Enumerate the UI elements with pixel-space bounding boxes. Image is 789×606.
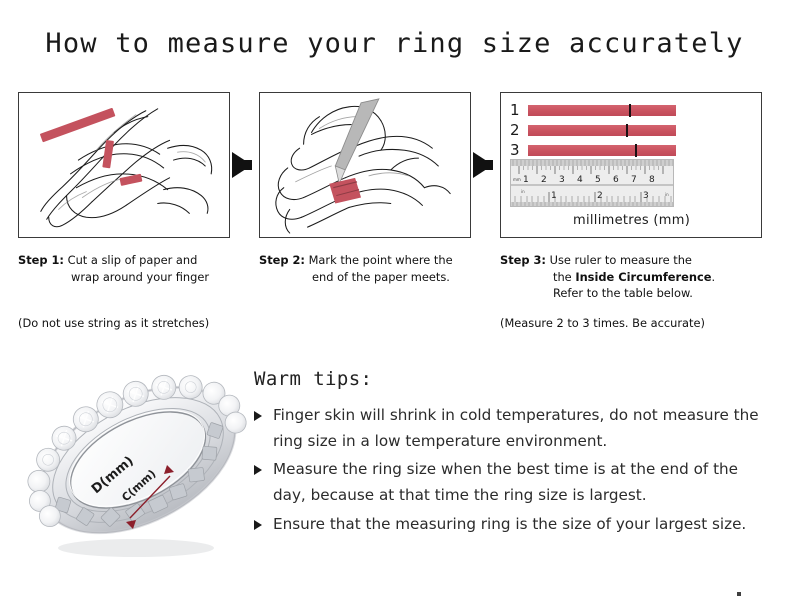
step-1-note: (Do not use string as it stretches) <box>18 316 209 330</box>
strip-number-2: 2 <box>510 123 528 138</box>
paper-strip-2 <box>528 125 676 136</box>
hand-marking-paper-illustration <box>260 93 470 237</box>
tip-text: Ensure that the measuring ring is the si… <box>273 511 774 537</box>
warm-tips-list: Finger skin will shrink in cold temperat… <box>254 402 774 539</box>
svg-text:3: 3 <box>559 175 565 185</box>
hand-with-paper-slip-illustration <box>19 93 229 237</box>
step-2-line-2: end of the paper meets. <box>259 269 484 286</box>
svg-text:mm: mm <box>513 177 521 182</box>
warm-tips-heading: Warm tips: <box>254 368 372 390</box>
list-item: Measure the ring size when the best time… <box>254 456 774 508</box>
diamond-eternity-ring-illustration: D(mm) C(mm) <box>18 352 258 572</box>
svg-text:8: 8 <box>649 175 655 185</box>
paper-strip-row-1: 1 <box>510 103 686 118</box>
paper-strip-row-2: 2 <box>510 123 686 138</box>
page-title: How to measure your ring size accurately <box>0 28 789 59</box>
step-3-line-3: Refer to the table below. <box>500 285 770 302</box>
ruler-scale-graphic: mm 123 456 78 123 in in <box>511 160 674 207</box>
step-3-line-2-prefix: the <box>553 270 575 284</box>
tip-text: Finger skin will shrink in cold temperat… <box>273 402 774 454</box>
svg-text:6: 6 <box>613 175 619 185</box>
image-artifact-speck <box>737 592 741 596</box>
step-3-note: (Measure 2 to 3 times. Be accurate) <box>500 316 705 330</box>
bullet-triangle-icon <box>254 411 262 421</box>
svg-text:5: 5 <box>595 175 601 185</box>
paper-strip-3 <box>528 145 676 156</box>
strip-number-3: 3 <box>510 143 528 158</box>
svg-text:7: 7 <box>631 175 637 185</box>
list-item: Finger skin will shrink in cold temperat… <box>254 402 774 454</box>
step-3-line-2-suffix: . <box>711 270 715 284</box>
step-2-line-1: Mark the point where the <box>309 253 453 267</box>
svg-text:1: 1 <box>523 175 529 185</box>
tip-text: Measure the ring size when the best time… <box>273 456 774 508</box>
step-3-line-2: the Inside Circumference. <box>500 269 770 286</box>
step-1-caption: Step 1: Cut a slip of paper and wrap aro… <box>18 252 243 285</box>
svg-text:2: 2 <box>541 175 547 185</box>
step-2-illustration-panel <box>259 92 471 238</box>
svg-text:2: 2 <box>597 191 603 201</box>
bullet-triangle-icon <box>254 520 262 530</box>
ruler: mm 123 456 78 123 in in <box>510 159 674 207</box>
inside-circumference-emphasis: Inside Circumference <box>575 270 711 284</box>
list-item: Ensure that the measuring ring is the si… <box>254 511 774 537</box>
step-1-to-2-arrow-icon <box>232 152 252 178</box>
step-2-label: Step 2: <box>259 253 305 267</box>
step-2-caption: Step 2: Mark the point where the end of … <box>259 252 484 285</box>
step-3-line-1: Use ruler to measure the <box>550 253 692 267</box>
step-1-line-1: Cut a slip of paper and <box>68 253 198 267</box>
red-paper-band <box>329 178 361 204</box>
step-3-caption: Step 3: Use ruler to measure the the Ins… <box>500 252 770 302</box>
step-1-label: Step 1: <box>18 253 64 267</box>
strip-tick-mark-2 <box>626 124 628 137</box>
ring-size-guide-page: How to measure your ring size accurately <box>0 0 789 606</box>
step-3-illustration-panel: 1 2 3 <box>500 92 762 238</box>
svg-text:4: 4 <box>577 175 583 185</box>
bullet-triangle-icon <box>254 465 262 475</box>
strip-number-1: 1 <box>510 103 528 118</box>
svg-text:in: in <box>521 189 525 194</box>
step-1-line-2: wrap around your finger <box>18 269 243 286</box>
svg-text:1: 1 <box>551 191 557 201</box>
svg-text:in: in <box>665 192 669 197</box>
unit-label: millimetres (mm) <box>573 213 690 228</box>
step-3-label: Step 3: <box>500 253 546 267</box>
svg-text:3: 3 <box>643 191 649 201</box>
pen-icon <box>335 99 379 184</box>
step-2-to-3-arrow-icon <box>473 152 493 178</box>
step-1-illustration-panel <box>18 92 230 238</box>
strip-tick-mark-3 <box>635 144 637 157</box>
strip-tick-mark-1 <box>629 104 631 117</box>
paper-strip-row-3: 3 <box>510 143 686 158</box>
paper-strip-1 <box>528 105 676 116</box>
